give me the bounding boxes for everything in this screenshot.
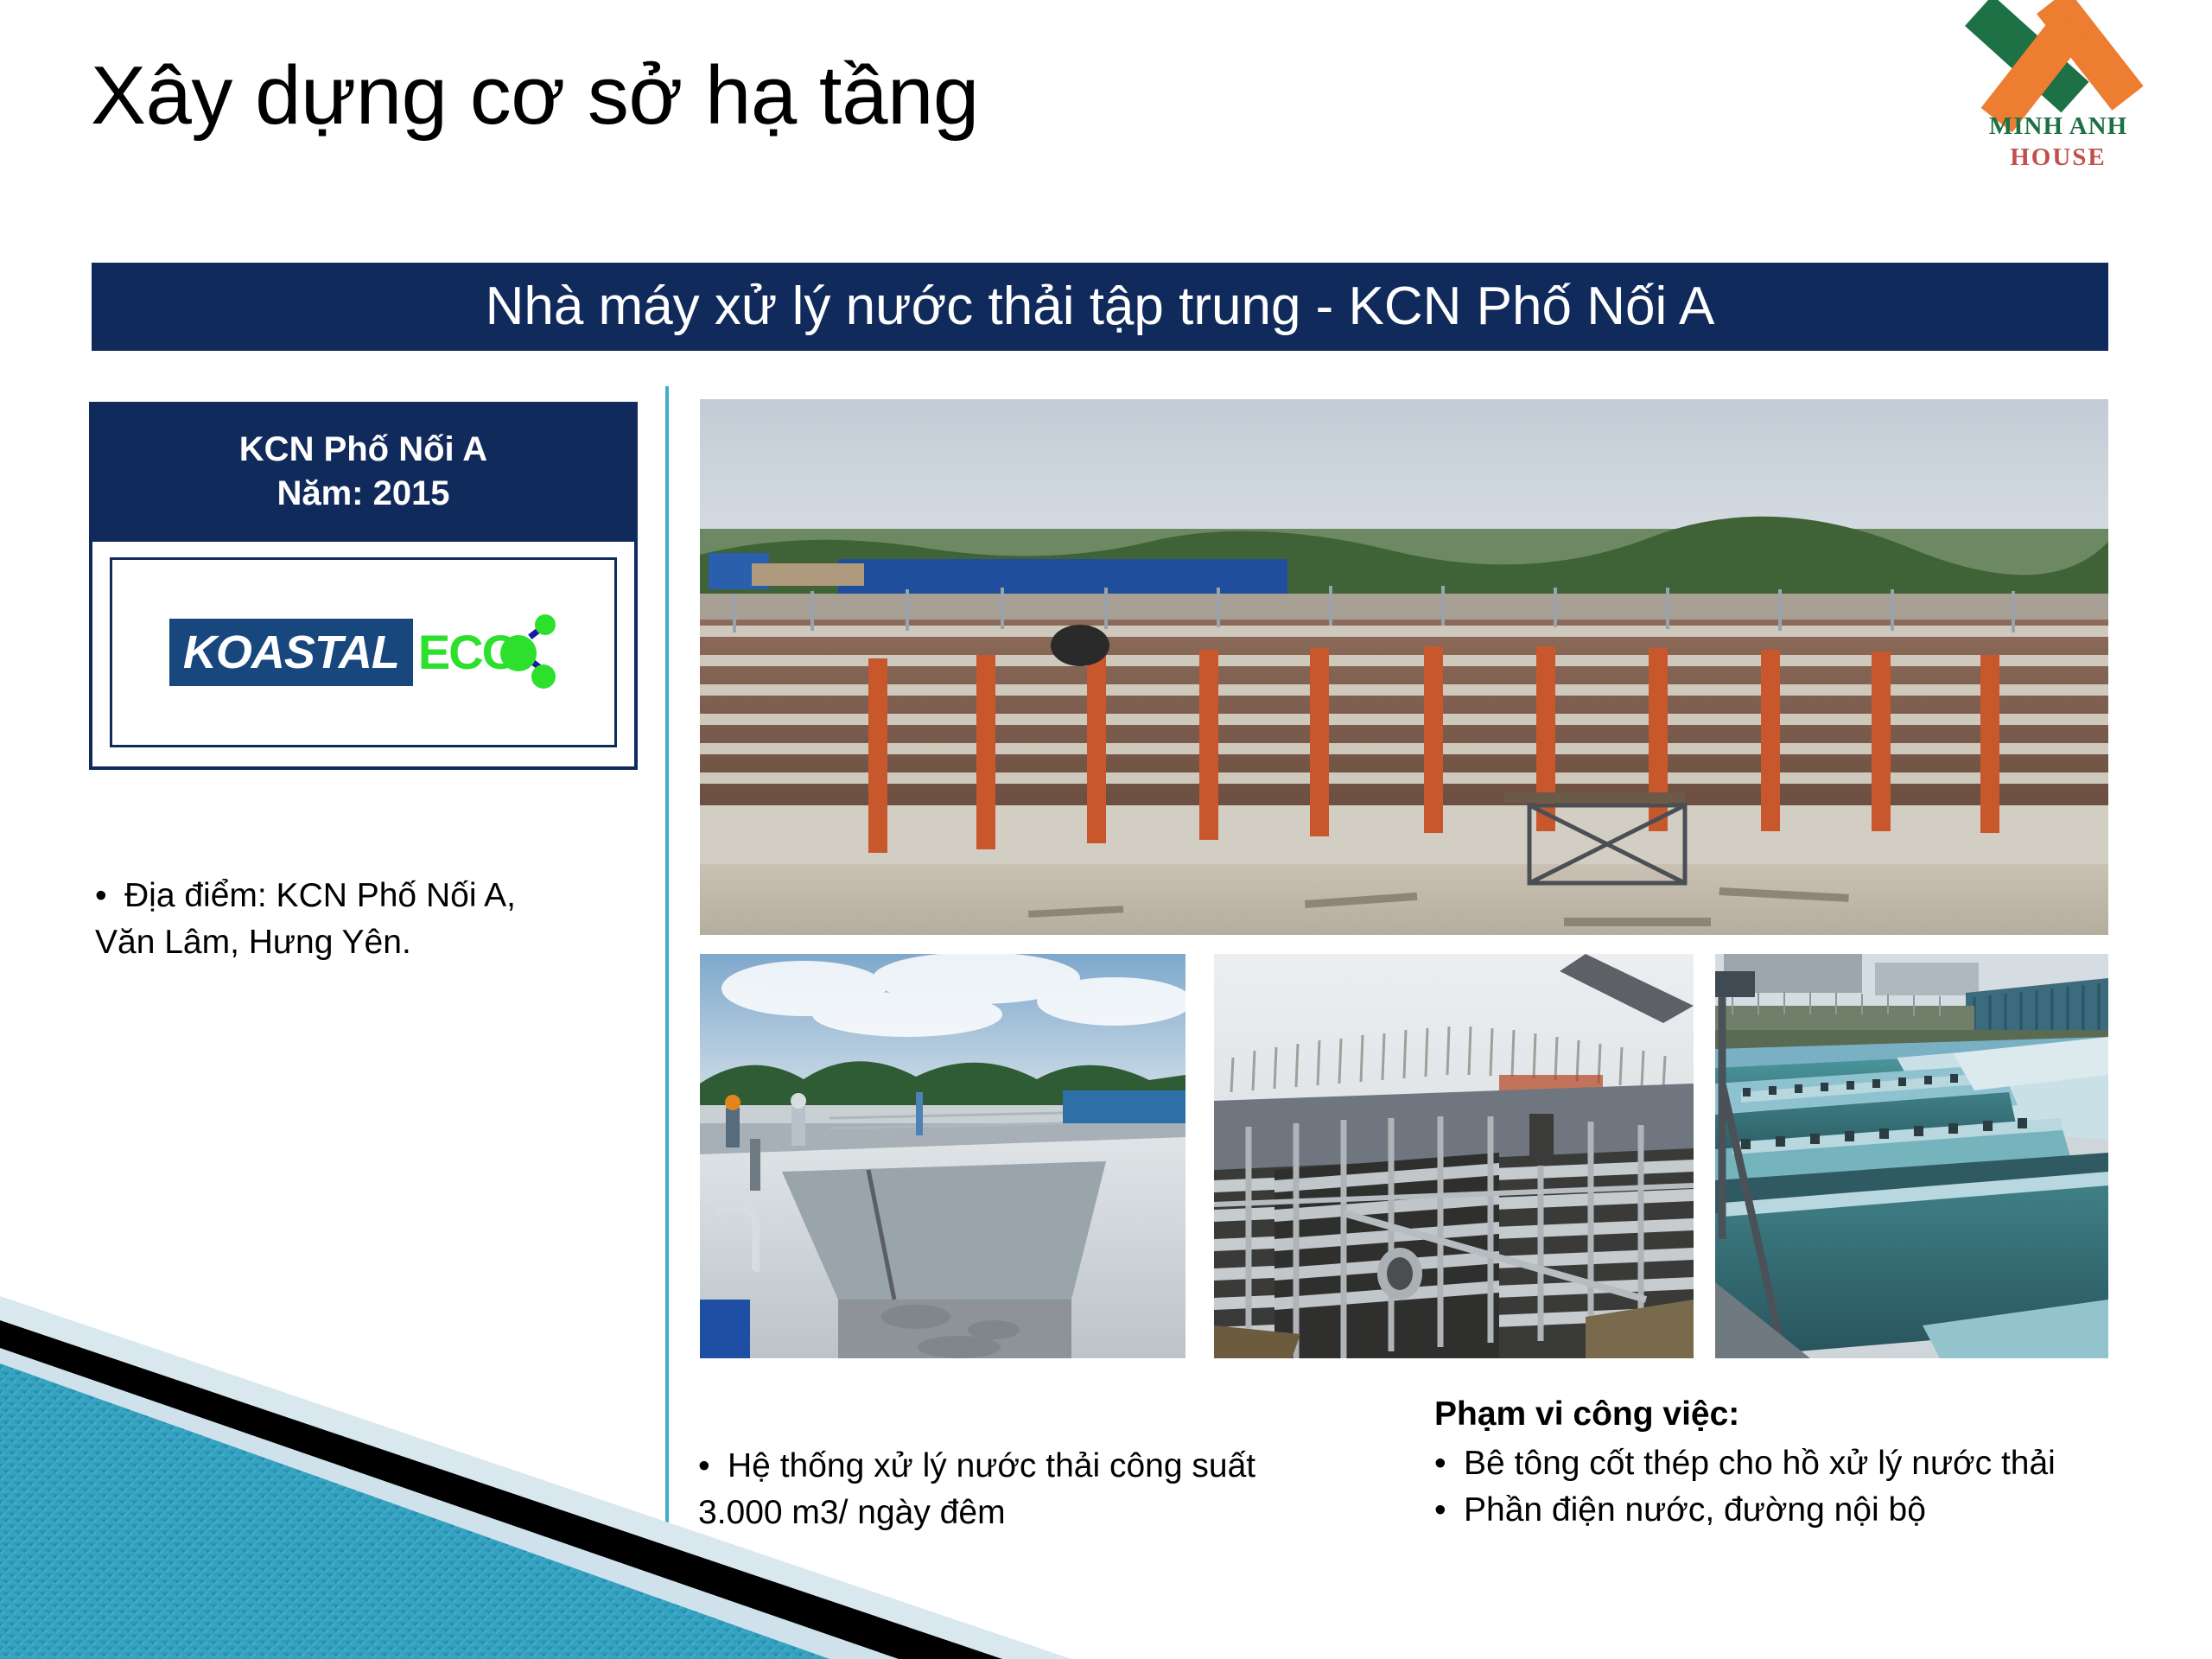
capacity-line2-row: 3.000 m3/ ngày đêm <box>698 1490 1381 1536</box>
capacity-line1: Hệ thống xử lý nước thải công suất <box>728 1447 1255 1484</box>
project-year: Năm: 2015 <box>101 472 626 516</box>
photo-main-construction-formwork <box>700 399 2108 935</box>
scope-of-work: Phạm vi công việc: •Bê tông cốt thép cho… <box>1434 1391 2177 1535</box>
minh-anh-house-logo: MINH ANH HOUSE <box>1963 7 2153 188</box>
section-banner-text: Nhà máy xử lý nước thải tập trung - KCN … <box>486 280 1715 334</box>
eco-wordmark-group: ECO <box>418 613 557 692</box>
bullet-glyph: • <box>1434 1487 1464 1535</box>
capacity-caption: •Hệ thống xử lý nước thải công suất 3.00… <box>698 1443 1381 1536</box>
list-item: •Địa điểm: KCN Phố Nối A, <box>95 873 648 919</box>
location-line2-row: Văn Lâm, Hưng Yên. <box>95 919 648 966</box>
project-info-header: KCN Phố Nối A Năm: 2015 <box>92 405 634 542</box>
photo-s2-graphic <box>1214 954 1694 1358</box>
list-item: •Bê tông cốt thép cho hồ xử lý nước thải <box>1434 1440 2177 1488</box>
koastal-wordmark: KOASTAL <box>169 619 413 686</box>
list-item: •Phần điện nước, đường nội bộ <box>1434 1487 2177 1535</box>
photo-s3-graphic <box>1715 954 2108 1358</box>
molecule-icon <box>493 613 557 692</box>
scope-of-work-header: Phạm vi công việc: <box>1434 1391 2177 1439</box>
molecule-atom-top <box>535 614 556 635</box>
koastal-eco-logo: KOASTAL ECO <box>169 613 557 692</box>
molecule-atom-bottom <box>531 664 556 689</box>
capacity-line2: 3.000 m3/ ngày đêm <box>698 1494 1006 1531</box>
scope-item-1: Bê tông cốt thép cho hồ xử lý nước thải <box>1464 1445 2056 1482</box>
molecule-atom-center <box>500 635 537 671</box>
photo-s1-graphic <box>700 954 1185 1358</box>
photo-concrete-tank-interior <box>700 954 1185 1358</box>
photo-operating-treatment-tanks <box>1715 954 2108 1358</box>
scope-item-2: Phần điện nước, đường nội bộ <box>1464 1491 1926 1529</box>
slide: Xây dựng cơ sở hạ tầng MINH ANH HOUSE Nh… <box>0 0 2212 1659</box>
section-banner: Nhà máy xử lý nước thải tập trung - KCN … <box>92 263 2108 351</box>
photo-main-graphic <box>700 399 2108 935</box>
location-line2: Văn Lâm, Hưng Yên. <box>95 924 411 961</box>
column-divider <box>665 386 669 1596</box>
project-name: KCN Phố Nối A <box>101 428 626 472</box>
page-title: Xây dựng cơ sở hạ tầng <box>91 50 979 142</box>
location-bullet-list: •Địa điểm: KCN Phố Nối A, Văn Lâm, Hưng … <box>95 873 648 966</box>
logo-name-line1: MINH ANH <box>1963 112 2153 141</box>
capacity-line1-row: •Hệ thống xử lý nước thải công suất <box>698 1443 1381 1490</box>
client-logo-box: KOASTAL ECO <box>110 557 617 747</box>
logo-name-line2: HOUSE <box>1963 143 2153 172</box>
bullet-glyph: • <box>698 1443 728 1490</box>
client-logo-wrap: KOASTAL ECO <box>92 542 634 766</box>
location-line1: Địa điểm: KCN Phố Nối A, <box>124 877 516 914</box>
project-info-card: KCN Phố Nối A Năm: 2015 KOASTAL ECO <box>89 402 638 770</box>
roof-chevron-icon <box>1963 7 2153 115</box>
photo-rebar-formwork-basin <box>1214 954 1694 1358</box>
bullet-glyph: • <box>95 873 124 919</box>
bullet-glyph: • <box>1434 1440 1464 1488</box>
